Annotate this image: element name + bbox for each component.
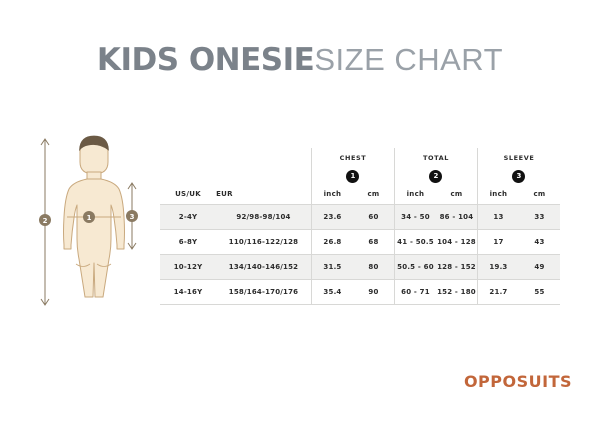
cell-total-cm: 128 - 152 (436, 255, 478, 280)
header-sleeve-inch: inch (477, 184, 519, 205)
spacer-cell (216, 148, 311, 162)
header-total-cm: cm (436, 184, 478, 205)
cell-total-cm: 104 - 128 (436, 230, 478, 255)
table-body: 2-4Y 92/98-98/104 23.6 60 34 - 50 86 - 1… (160, 205, 560, 305)
group-label-sleeve: SLEEVE (477, 148, 560, 162)
badge-cell-sleeve: 3 (477, 162, 560, 184)
cell-eur: 110/116-122/128 (216, 230, 311, 255)
cell-sleeve-inch: 13 (477, 205, 519, 230)
header-chest-inch: inch (311, 184, 353, 205)
cell-chest-inch: 31.5 (311, 255, 353, 280)
badge-3: 3 (512, 170, 525, 183)
cell-sleeve-cm: 43 (519, 230, 560, 255)
header-total-inch: inch (394, 184, 436, 205)
header-sleeve-cm: cm (519, 184, 560, 205)
cell-chest-cm: 68 (353, 230, 395, 255)
cell-total-cm: 152 - 180 (436, 280, 478, 305)
spacer-cell (160, 148, 216, 162)
figure-marker-3: 3 (126, 210, 138, 222)
cell-usuk: 6-8Y (160, 230, 216, 255)
table-row: 6-8Y 110/116-122/128 26.8 68 41 - 50.5 1… (160, 230, 560, 255)
svg-text:2: 2 (43, 217, 48, 225)
group-label-total: TOTAL (394, 148, 477, 162)
cell-sleeve-inch: 21.7 (477, 280, 519, 305)
cell-chest-inch: 23.6 (311, 205, 353, 230)
figure-marker-1: 1 (83, 211, 95, 223)
svg-text:1: 1 (87, 214, 92, 222)
measurement-figure: 1 2 3 (34, 128, 154, 314)
cell-chest-inch: 26.8 (311, 230, 353, 255)
cell-usuk: 2-4Y (160, 205, 216, 230)
badge-1: 1 (346, 170, 359, 183)
cell-chest-cm: 80 (353, 255, 395, 280)
cell-total-inch: 50.5 - 60 (394, 255, 436, 280)
header-eur: EUR (216, 184, 311, 205)
header-chest-cm: cm (353, 184, 395, 205)
table-row: 2-4Y 92/98-98/104 23.6 60 34 - 50 86 - 1… (160, 205, 560, 230)
spacer-cell (160, 162, 216, 184)
header-usuk: US/UK (160, 184, 216, 205)
group-label-chest: CHEST (311, 148, 394, 162)
page-title-bold: KIDS ONESIE (97, 42, 314, 78)
cell-eur: 134/140-146/152 (216, 255, 311, 280)
cell-sleeve-inch: 19.3 (477, 255, 519, 280)
cell-chest-inch: 35.4 (311, 280, 353, 305)
spacer-cell (216, 162, 311, 184)
table-head: CHEST TOTAL SLEEVE 1 2 3 US/UK (160, 148, 560, 205)
cell-sleeve-cm: 33 (519, 205, 560, 230)
size-chart-table: CHEST TOTAL SLEEVE 1 2 3 US/UK (160, 148, 560, 305)
cell-usuk: 10-12Y (160, 255, 216, 280)
table-row: 14-16Y 158/164-170/176 35.4 90 60 - 71 1… (160, 280, 560, 305)
figure-marker-2: 2 (39, 214, 51, 226)
page-title-light: SIZE CHART (314, 42, 503, 77)
page-title: KIDS ONESIESIZE CHART (0, 42, 600, 78)
cell-usuk: 14-16Y (160, 280, 216, 305)
cell-total-inch: 34 - 50 (394, 205, 436, 230)
cell-chest-cm: 60 (353, 205, 395, 230)
badge-cell-total: 2 (394, 162, 477, 184)
size-chart-table-wrap: CHEST TOTAL SLEEVE 1 2 3 US/UK (160, 148, 560, 305)
unit-header-row: US/UK EUR inch cm inch cm inch cm (160, 184, 560, 205)
table-row: 10-12Y 134/140-146/152 31.5 80 50.5 - 60… (160, 255, 560, 280)
group-badge-row: 1 2 3 (160, 162, 560, 184)
cell-sleeve-cm: 55 (519, 280, 560, 305)
brand-logo: OPPOSUITS (464, 372, 572, 391)
cell-sleeve-cm: 49 (519, 255, 560, 280)
cell-total-inch: 41 - 50.5 (394, 230, 436, 255)
badge-2: 2 (429, 170, 442, 183)
group-label-row: CHEST TOTAL SLEEVE (160, 148, 560, 162)
badge-cell-chest: 1 (311, 162, 394, 184)
cell-chest-cm: 90 (353, 280, 395, 305)
cell-sleeve-inch: 17 (477, 230, 519, 255)
cell-eur: 92/98-98/104 (216, 205, 311, 230)
cell-total-cm: 86 - 104 (436, 205, 478, 230)
cell-eur: 158/164-170/176 (216, 280, 311, 305)
svg-text:3: 3 (130, 213, 135, 221)
cell-total-inch: 60 - 71 (394, 280, 436, 305)
